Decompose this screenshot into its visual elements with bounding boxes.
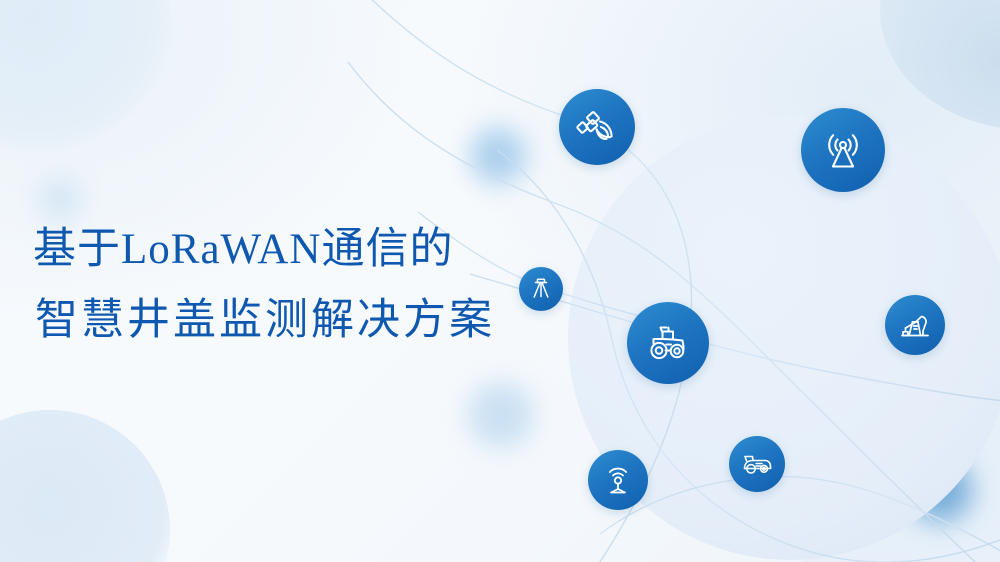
signal-sensor-icon [600, 462, 636, 498]
node-signal-sensor[interactable] [588, 450, 648, 510]
tractor-icon [644, 319, 692, 367]
satellite-icon [576, 106, 618, 148]
survey-tripod-icon [528, 276, 554, 302]
oil-pumpjack-icon [897, 307, 933, 343]
title-line-1: 基于LoRaWAN通信的 [33, 228, 495, 271]
radio-tower-icon [819, 126, 867, 174]
presentation-cover-slide: 基于LoRaWAN通信的 智慧井盖监测解决方案 [0, 0, 1000, 562]
node-satellite[interactable] [559, 89, 635, 165]
node-robot-mower[interactable] [729, 436, 785, 492]
node-tractor[interactable] [627, 302, 709, 384]
node-radio-tower[interactable] [801, 108, 885, 192]
node-oil-pumpjack[interactable] [885, 295, 945, 355]
robot-mower-icon [740, 447, 774, 481]
title-line-2: 智慧井盖监测解决方案 [35, 299, 495, 342]
node-survey-tripod[interactable] [519, 267, 563, 311]
title-block: 基于LoRaWAN通信的 智慧井盖监测解决方案 [33, 228, 495, 342]
